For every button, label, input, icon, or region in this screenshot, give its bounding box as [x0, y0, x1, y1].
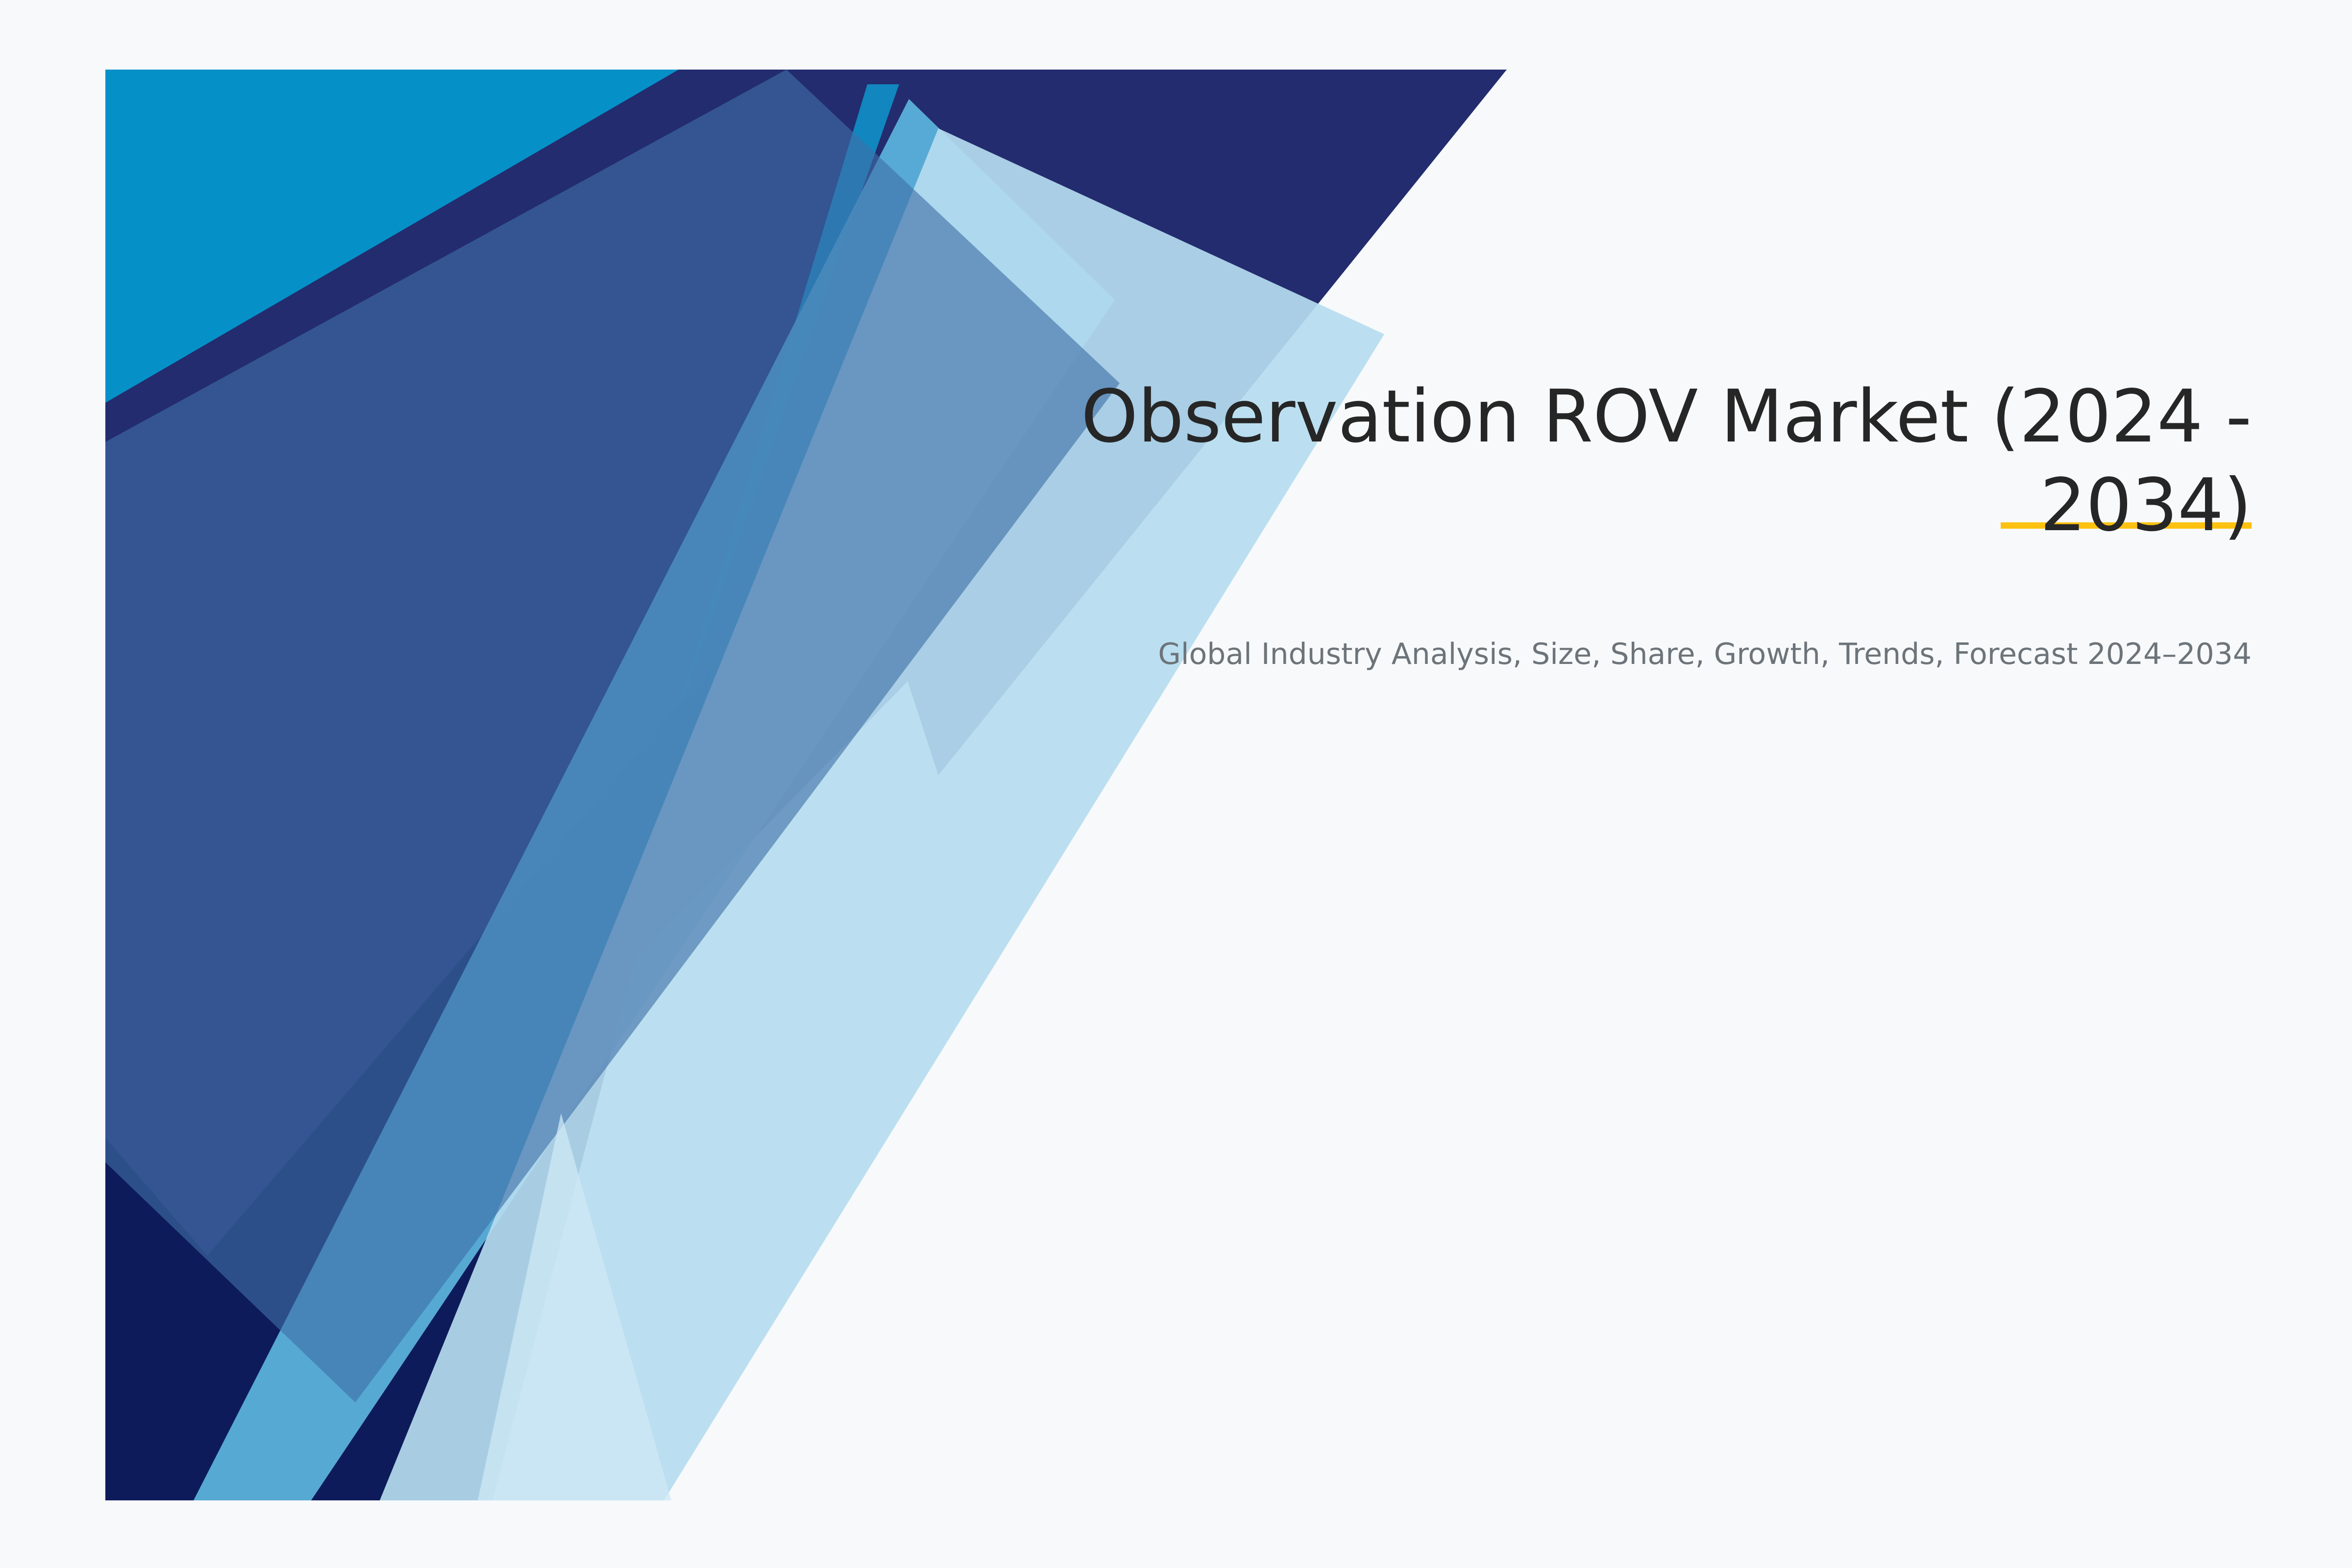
artwork-svg	[105, 70, 1507, 1500]
title-wrapper: Observation ROV Market (2024 - 2034)	[1076, 372, 2252, 549]
title-text-block: Observation ROV Market (2024 - 2034) Glo…	[1076, 372, 2252, 673]
decorative-artwork	[105, 70, 1507, 1500]
page-subtitle: Global Industry Analysis, Size, Share, G…	[1076, 549, 2252, 673]
title-slide: Observation ROV Market (2024 - 2034) Glo…	[0, 0, 2352, 1568]
page-title: Observation ROV Market (2024 - 2034)	[1076, 372, 2252, 549]
